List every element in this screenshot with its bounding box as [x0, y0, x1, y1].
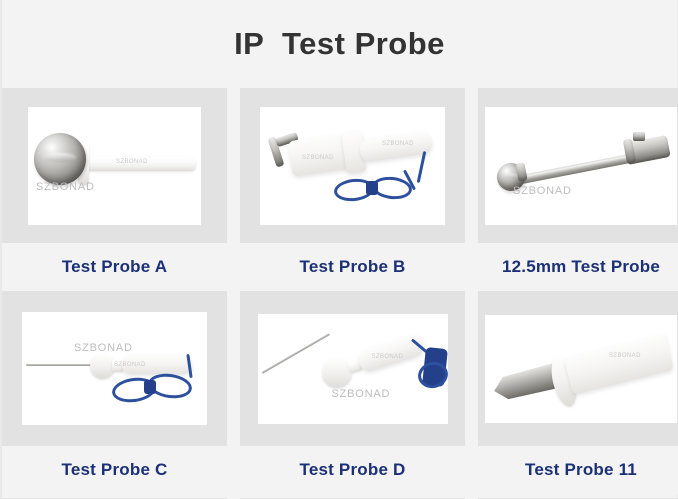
probe-needle — [261, 333, 330, 374]
probe-label-test-probe-c: Test Probe C — [62, 460, 168, 480]
photo-watermark: SZBONAD — [513, 185, 572, 197]
probe-image-panel: SZBONAD SZBONAD — [2, 291, 227, 446]
probe-ball-collar — [515, 162, 527, 181]
probe-cable-line — [417, 151, 427, 183]
probe-label-band: Test Probe B — [240, 243, 465, 291]
photo-watermark: SZBONAD — [74, 342, 133, 354]
probe-card-12-5mm-test-probe[interactable]: SZBONAD 12.5mm Test Probe — [478, 88, 678, 291]
probe-photo-test-probe-d[interactable]: SZBONAD SZBONAD — [258, 314, 448, 424]
probe-cable-knot — [366, 181, 378, 195]
page-title: IP Test Probe — [234, 26, 445, 62]
probe-photo-12-5mm-test-probe[interactable]: SZBONAD — [485, 107, 677, 225]
probe-label-test-probe-a: Test Probe A — [62, 257, 167, 277]
probe-card-test-probe-11[interactable]: SZBONAD Test Probe 11 — [478, 291, 678, 494]
probe-image-panel: SZBONAD SZBONAD — [240, 291, 465, 446]
probe-needle — [26, 364, 100, 366]
page-header: IP Test Probe — [2, 0, 677, 88]
probe-steel-sphere — [34, 133, 86, 185]
probe-handle — [564, 332, 674, 394]
probe-label-band: 12.5mm Test Probe — [478, 243, 678, 291]
probe-set-screw — [633, 132, 645, 141]
probe-label-band: Test Probe A — [2, 243, 227, 291]
probe-label-test-probe-11: Test Probe 11 — [525, 460, 637, 480]
probe-image-panel: SZBONAD SZBONAD — [240, 88, 465, 243]
photo-watermark: SZBONAD — [332, 388, 391, 400]
probe-photo-test-probe-c[interactable]: SZBONAD SZBONAD — [22, 312, 207, 425]
probe-label-test-probe-b: Test Probe B — [300, 257, 406, 277]
probe-image-panel: SZBONAD SZBONAD — [2, 88, 227, 243]
probe-card-test-probe-a[interactable]: SZBONAD SZBONAD Test Probe A — [2, 88, 227, 291]
probe-handle — [356, 332, 426, 373]
probe-card-test-probe-c[interactable]: SZBONAD SZBONAD Test Probe C — [2, 291, 227, 494]
probe-grid-row-2: SZBONAD SZBONAD Test Probe C — [2, 291, 677, 494]
probe-label-band: Test Probe 11 — [478, 446, 678, 494]
probe-cable-knot — [144, 380, 156, 394]
probe-steel-rod — [513, 153, 633, 185]
probe-handle-bar — [80, 157, 196, 171]
probe-photo-test-probe-11[interactable]: SZBONAD — [485, 315, 677, 423]
probe-label-test-probe-d: Test Probe D — [300, 460, 406, 480]
probe-card-test-probe-d[interactable]: SZBONAD SZBONAD Test Probe D — [240, 291, 465, 494]
probe-label-band: Test Probe C — [2, 446, 227, 494]
probe-photo-test-probe-b[interactable]: SZBONAD SZBONAD — [260, 107, 445, 225]
probe-image-panel: SZBONAD — [478, 88, 678, 243]
probe-label-12-5mm-test-probe: 12.5mm Test Probe — [502, 257, 660, 277]
probe-image-panel: SZBONAD — [478, 291, 678, 446]
probe-handle — [122, 355, 192, 374]
probe-grid-row-1: SZBONAD SZBONAD Test Probe A — [2, 88, 677, 291]
probe-label-band: Test Probe D — [240, 446, 465, 494]
probe-card-test-probe-b[interactable]: SZBONAD SZBONAD Test Probe B — [240, 88, 465, 291]
probe-photo-test-probe-a[interactable]: SZBONAD SZBONAD — [28, 107, 201, 225]
